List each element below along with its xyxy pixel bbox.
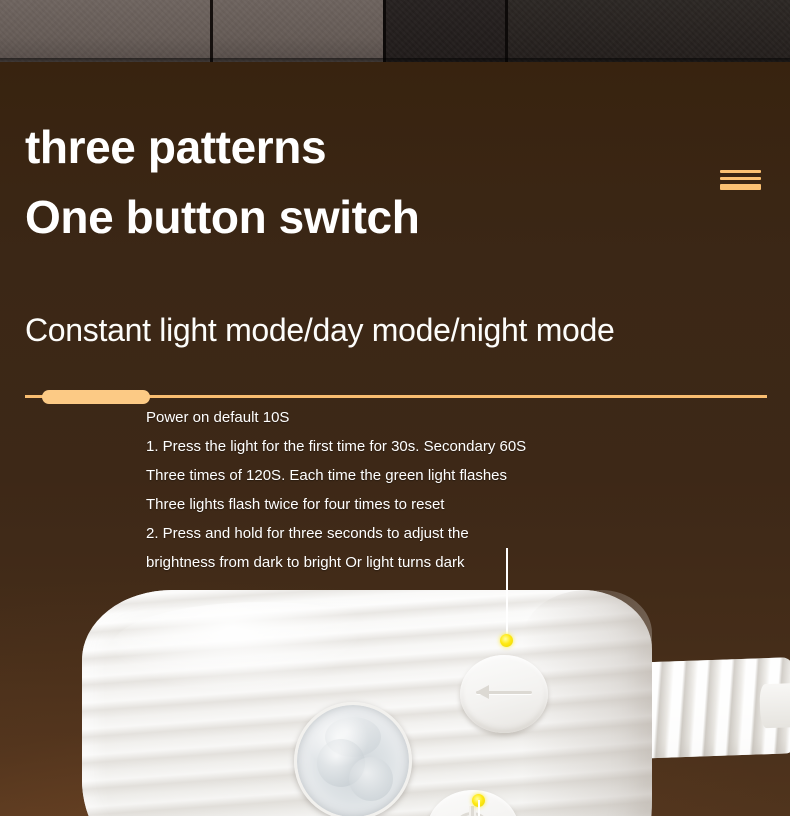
hamburger-bar-3 xyxy=(720,184,761,190)
pir-sensor-dome xyxy=(294,702,412,816)
cabinet-panel-dark-2 xyxy=(505,0,790,62)
cabinet-photo-band xyxy=(0,0,790,62)
callout-marker-mode-button xyxy=(500,634,513,647)
arrow-left-icon xyxy=(476,691,532,694)
callout-leader-line xyxy=(506,548,508,640)
cabinet-panel-dark-1 xyxy=(383,0,505,62)
instruction-line: Power on default 10S xyxy=(146,403,706,432)
hamburger-bar-2 xyxy=(720,177,761,180)
instruction-list: Power on default 10S 1. Press the light … xyxy=(146,403,706,577)
subtitle-modes: Constant light mode/day mode/night mode xyxy=(25,309,615,351)
pir-lens-facet xyxy=(349,757,393,801)
callout-leader-line xyxy=(478,800,480,816)
headline-secondary: One button switch xyxy=(25,188,419,246)
cable-taper xyxy=(759,683,790,729)
divider-knob xyxy=(42,390,150,404)
cabinet-panel-mid xyxy=(210,0,383,62)
section-divider xyxy=(25,390,767,404)
hamburger-icon xyxy=(720,170,761,190)
power-icon xyxy=(453,812,491,816)
headline-primary: three patterns xyxy=(25,118,326,176)
lamp-highlight xyxy=(112,602,412,692)
lamp-body xyxy=(82,590,652,816)
instruction-line: Three times of 120S. Each time the green… xyxy=(146,461,706,490)
hamburger-bar-1 xyxy=(720,170,761,173)
mode-button-arrow[interactable] xyxy=(460,655,548,733)
motion-sensor-light-photo xyxy=(0,560,790,816)
instruction-line: Three lights flash twice for four times … xyxy=(146,490,706,519)
cabinet-panel-left xyxy=(0,0,210,62)
instruction-line: 1. Press the light for the first time fo… xyxy=(146,432,706,461)
product-feature-page: three patterns One button switch Constan… xyxy=(0,0,790,816)
instruction-line: 2. Press and hold for three seconds to a… xyxy=(146,519,706,548)
